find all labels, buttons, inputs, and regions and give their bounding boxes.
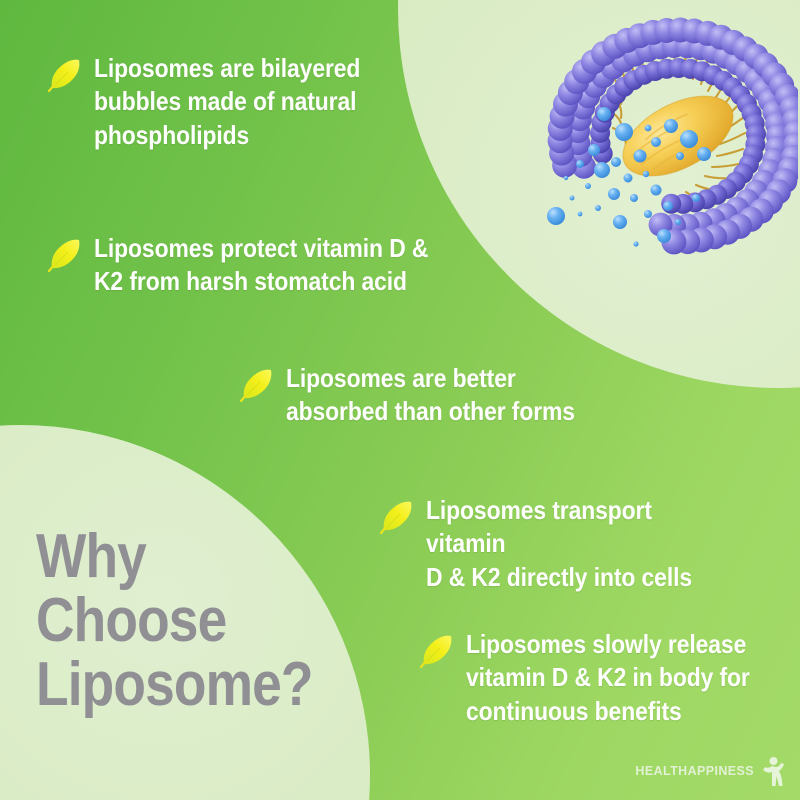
leaf-icon: [48, 58, 82, 92]
leaf-icon: [240, 368, 274, 402]
bullet-item-5: Liposomes slowly release vitamin D & K2 …: [420, 628, 790, 728]
liposome-illustration: [528, 8, 798, 268]
bullet-text: Liposomes protect vitamin D & K2 from ha…: [94, 232, 428, 299]
bullet-item-2: Liposomes protect vitamin D & K2 from ha…: [48, 232, 478, 299]
bullet-item-1: Liposomes are bilayered bubbles made of …: [48, 52, 448, 152]
page-title: Why Choose Liposome?: [36, 525, 313, 717]
bullet-text: Liposomes are better absorbed than other…: [286, 362, 575, 429]
brand-logo: HEALTHAPPINESS: [635, 756, 786, 786]
bullet-text: Liposomes transport vitamin D & K2 direc…: [426, 494, 738, 594]
leaf-icon: [48, 238, 82, 272]
leaf-icon: [380, 500, 414, 534]
bullet-text: Liposomes are bilayered bubbles made of …: [94, 52, 360, 152]
leaf-icon: [420, 634, 454, 668]
bullet-item-3: Liposomes are better absorbed than other…: [240, 362, 640, 429]
infographic-poster: Liposomes are bilayered bubbles made of …: [0, 0, 800, 800]
brand-name: HEALTHAPPINESS: [635, 764, 754, 778]
running-figure-icon: [760, 756, 786, 786]
bullet-text: Liposomes slowly release vitamin D & K2 …: [466, 628, 750, 728]
bullet-item-4: Liposomes transport vitamin D & K2 direc…: [380, 494, 780, 594]
